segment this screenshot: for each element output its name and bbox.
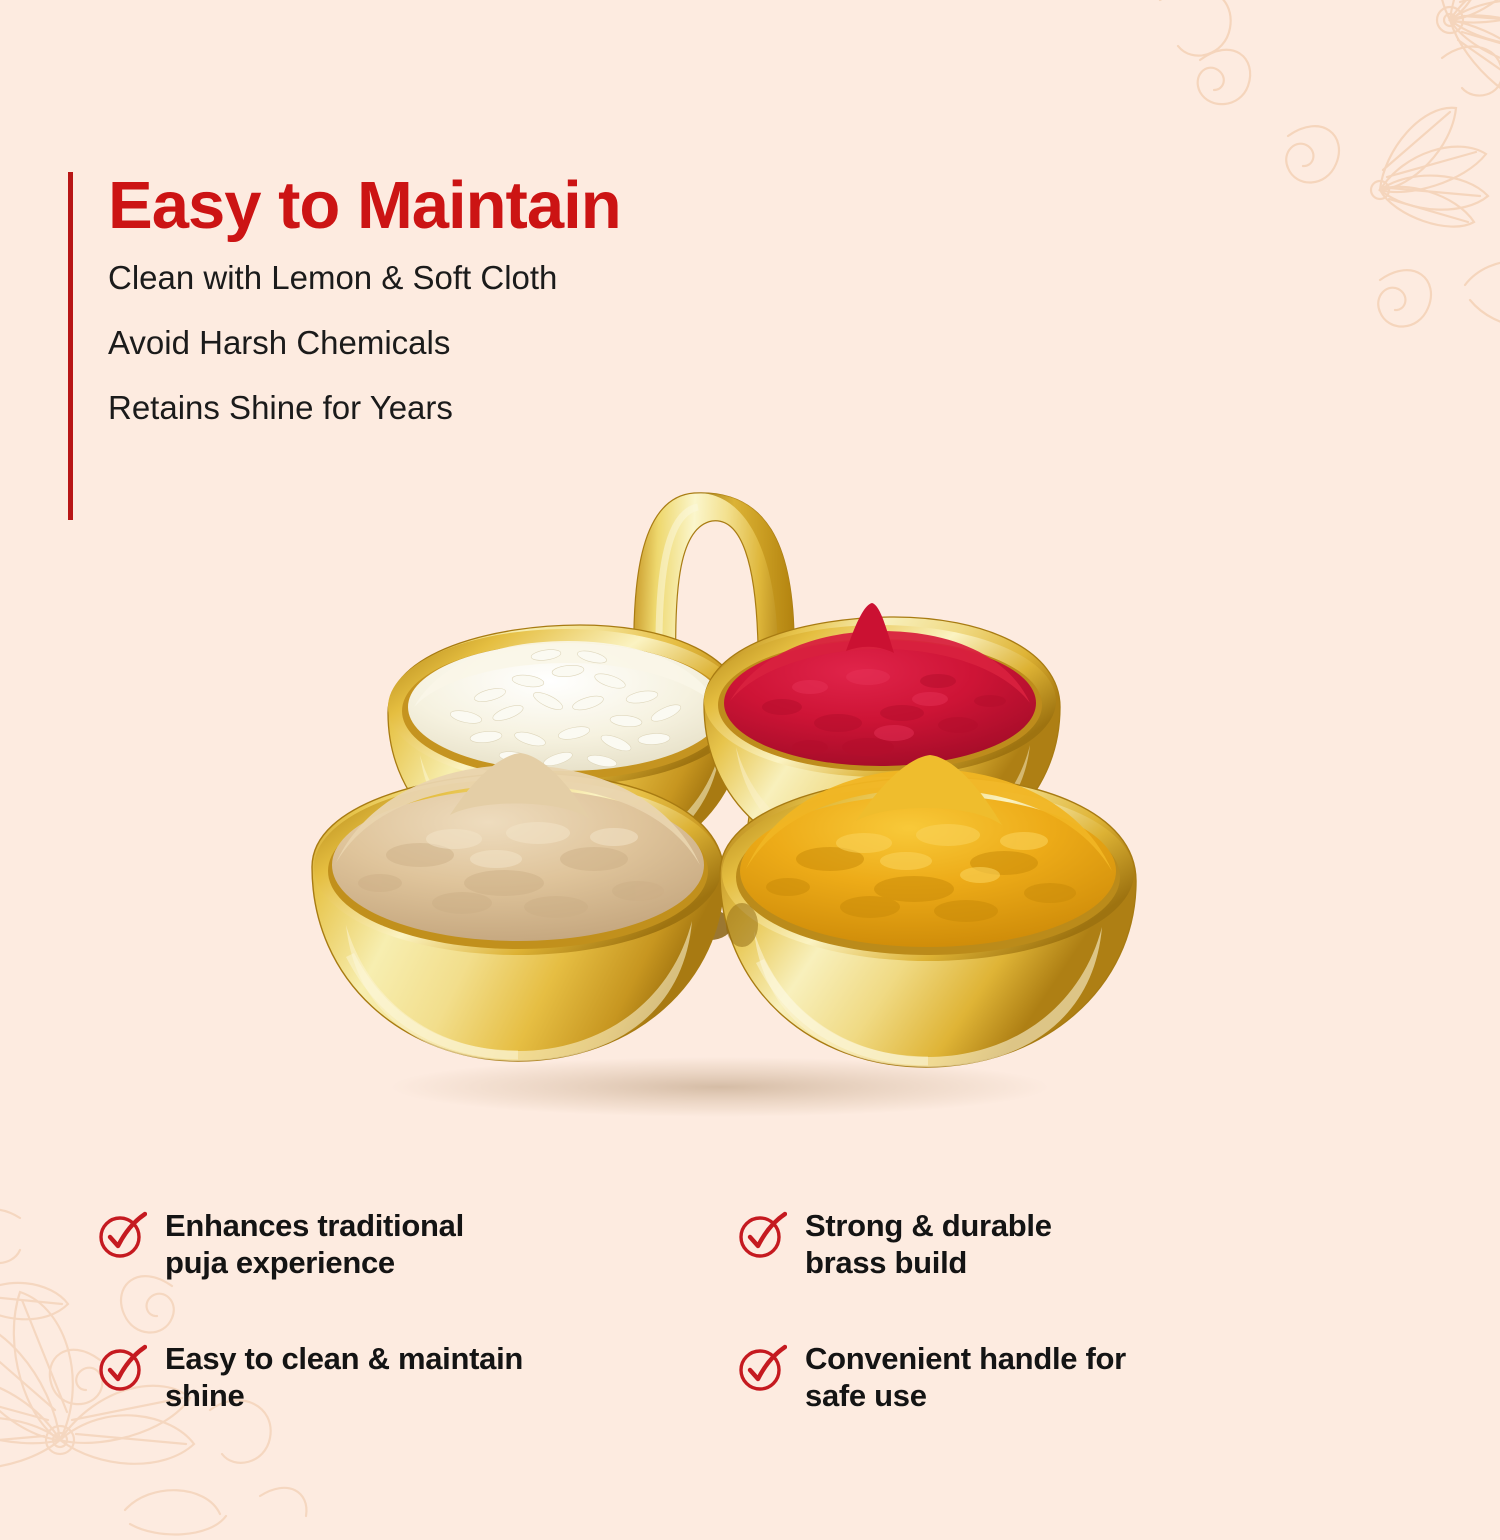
sandalwood-bowl [312,753,724,1061]
maintenance-tip-3: Retains Shine for Years [108,391,621,424]
product-image [290,455,1150,1135]
feature-label: Enhances traditional puja experience [165,1208,464,1281]
red-accent-bar [68,172,73,520]
header-block: Easy to Maintain Clean with Lemon & Soft… [68,172,621,424]
maintenance-tip-2: Avoid Harsh Chemicals [108,326,621,359]
feature-label: Easy to clean & maintain shine [165,1341,523,1414]
maintenance-tip-1: Clean with Lemon & Soft Cloth [108,261,621,294]
check-circle-icon [735,1343,787,1395]
feature-item-strong-brass: Strong & durable brass build [735,1208,1355,1281]
feature-item-easy-clean: Easy to clean & maintain shine [95,1341,715,1414]
check-circle-icon [735,1210,787,1262]
feature-label: Strong & durable brass build [805,1208,1052,1281]
feature-label: Convenient handle for safe use [805,1341,1126,1414]
feature-list: Enhances traditional puja experience Str… [95,1208,1415,1414]
mandala-ornament-top-right [1050,0,1500,410]
feature-item-convenient-handle: Convenient handle for safe use [735,1341,1355,1414]
check-circle-icon [95,1210,147,1262]
check-circle-icon [95,1343,147,1395]
page-title: Easy to Maintain [108,172,621,239]
feature-item-enhances-puja: Enhances traditional puja experience [95,1208,715,1281]
